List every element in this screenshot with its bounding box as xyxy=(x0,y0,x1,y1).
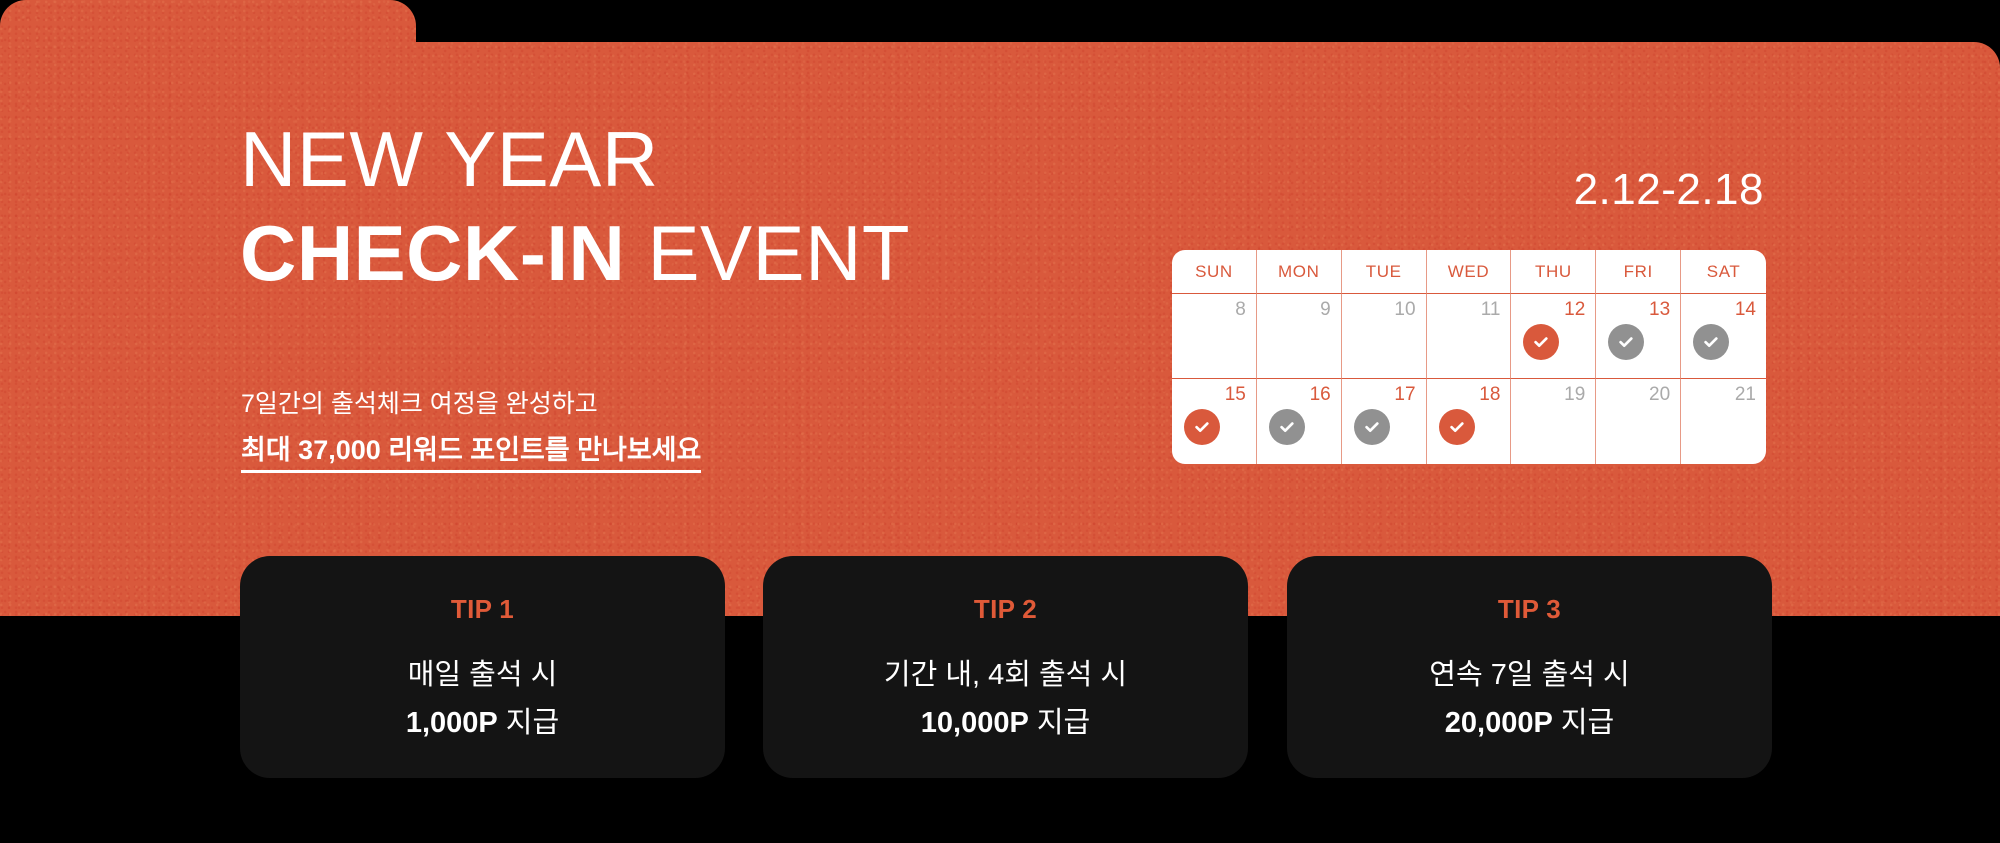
subtitle-block: 7일간의 출석체크 여정을 완성하고 최대 37,000 리워드 포인트를 만나… xyxy=(241,388,701,473)
tip-reward-suffix: 지급 xyxy=(1553,707,1614,739)
tip-reward-text: 1,000P 지급 xyxy=(406,702,559,744)
calendar-day-number: 20 xyxy=(1596,385,1670,404)
calendar-day-number: 12 xyxy=(1511,300,1585,319)
calendar-weekday-sun: SUN xyxy=(1172,250,1257,294)
calendar-day-cell[interactable]: 14 xyxy=(1681,294,1766,379)
calendar-weekday-thu: THU xyxy=(1511,250,1596,294)
check-circle-pending-icon[interactable] xyxy=(1608,324,1644,360)
calendar-day-cell[interactable]: 8 xyxy=(1172,294,1257,379)
calendar-day-number: 11 xyxy=(1427,300,1501,319)
tip-reward-amount: 10,000P xyxy=(921,707,1029,739)
calendar-weekday-tue: TUE xyxy=(1342,250,1427,294)
headline-block: NEW YEAR CHECK-IN EVENT xyxy=(240,120,910,295)
calendar-weekday-wed: WED xyxy=(1427,250,1512,294)
tip-condition-text: 기간 내, 4회 출석 시 xyxy=(884,654,1127,696)
calendar-weekday-sat: SAT xyxy=(1681,250,1766,294)
check-circle-completed-icon[interactable] xyxy=(1523,324,1559,360)
tip-label: TIP 1 xyxy=(451,596,514,622)
headline-line-2: CHECK-IN EVENT xyxy=(240,212,910,295)
calendar-day-cell[interactable]: 18 xyxy=(1427,379,1512,464)
calendar-day-cell[interactable]: 15 xyxy=(1172,379,1257,464)
calendar-day-number: 21 xyxy=(1681,385,1756,404)
tip-reward-text: 10,000P 지급 xyxy=(921,702,1090,744)
tip-label: TIP 2 xyxy=(974,596,1037,622)
calendar-day-cell[interactable]: 9 xyxy=(1257,294,1342,379)
calendar-week-row-2: 15161718192021 xyxy=(1172,379,1766,464)
headline-line-1: NEW YEAR xyxy=(240,120,910,198)
calendar-week-row-1: 891011121314 xyxy=(1172,294,1766,379)
calendar-day-number: 18 xyxy=(1427,385,1501,404)
check-circle-pending-icon[interactable] xyxy=(1269,409,1305,445)
check-circle-completed-icon[interactable] xyxy=(1184,409,1220,445)
tip-reward-amount: 20,000P xyxy=(1445,707,1553,739)
date-range-label: 2.12-2.18 xyxy=(1574,165,1764,215)
tip-reward-text: 20,000P 지급 xyxy=(1445,702,1614,744)
tip-label: TIP 3 xyxy=(1498,596,1561,622)
tip-condition-text: 매일 출석 시 xyxy=(408,654,558,696)
tip-card-2[interactable]: TIP 2기간 내, 4회 출석 시10,000P 지급 xyxy=(763,556,1248,778)
check-circle-pending-icon[interactable] xyxy=(1354,409,1390,445)
calendar-day-number: 13 xyxy=(1596,300,1670,319)
calendar-day-cell[interactable]: 21 xyxy=(1681,379,1766,464)
calendar-day-cell[interactable]: 16 xyxy=(1257,379,1342,464)
calendar-day-number: 9 xyxy=(1257,300,1331,319)
calendar-day-number: 17 xyxy=(1342,385,1416,404)
check-circle-completed-icon[interactable] xyxy=(1439,409,1475,445)
tip-condition-text: 연속 7일 출석 시 xyxy=(1429,654,1629,696)
headline-emphasis: CHECK-IN xyxy=(240,209,625,297)
check-circle-pending-icon[interactable] xyxy=(1693,324,1729,360)
calendar-day-cell[interactable]: 17 xyxy=(1342,379,1427,464)
tip-reward-amount: 1,000P xyxy=(406,707,498,739)
calendar-weekday-fri: FRI xyxy=(1596,250,1681,294)
calendar-day-number: 16 xyxy=(1257,385,1331,404)
calendar-day-number: 8 xyxy=(1172,300,1246,319)
calendar-day-cell[interactable]: 11 xyxy=(1427,294,1512,379)
calendar-day-cell[interactable]: 10 xyxy=(1342,294,1427,379)
calendar-day-number: 10 xyxy=(1342,300,1416,319)
tip-card-3[interactable]: TIP 3연속 7일 출석 시20,000P 지급 xyxy=(1287,556,1772,778)
calendar-day-number: 14 xyxy=(1681,300,1756,319)
calendar-weekday-mon: MON xyxy=(1257,250,1342,294)
event-banner: NEW YEAR CHECK-IN EVENT 7일간의 출석체크 여정을 완성… xyxy=(0,0,2000,843)
tip-card-1[interactable]: TIP 1매일 출석 시1,000P 지급 xyxy=(240,556,725,778)
calendar-day-number: 19 xyxy=(1511,385,1585,404)
calendar-day-cell[interactable]: 20 xyxy=(1596,379,1681,464)
headline-suffix: EVENT xyxy=(625,209,910,297)
tip-reward-suffix: 지급 xyxy=(498,707,559,739)
subtitle-line-1: 7일간의 출석체크 여정을 완성하고 xyxy=(241,388,701,421)
tip-reward-suffix: 지급 xyxy=(1029,707,1090,739)
checkin-calendar[interactable]: SUNMONTUEWEDTHUFRISAT 891011121314 15161… xyxy=(1172,250,1766,464)
calendar-day-number: 15 xyxy=(1172,385,1246,404)
calendar-weekday-header: SUNMONTUEWEDTHUFRISAT xyxy=(1172,250,1766,294)
calendar-day-cell[interactable]: 19 xyxy=(1511,379,1596,464)
calendar-day-cell[interactable]: 13 xyxy=(1596,294,1681,379)
calendar-day-cell[interactable]: 12 xyxy=(1511,294,1596,379)
subtitle-reward-link[interactable]: 최대 37,000 리워드 포인트를 만나보세요 xyxy=(241,433,701,473)
